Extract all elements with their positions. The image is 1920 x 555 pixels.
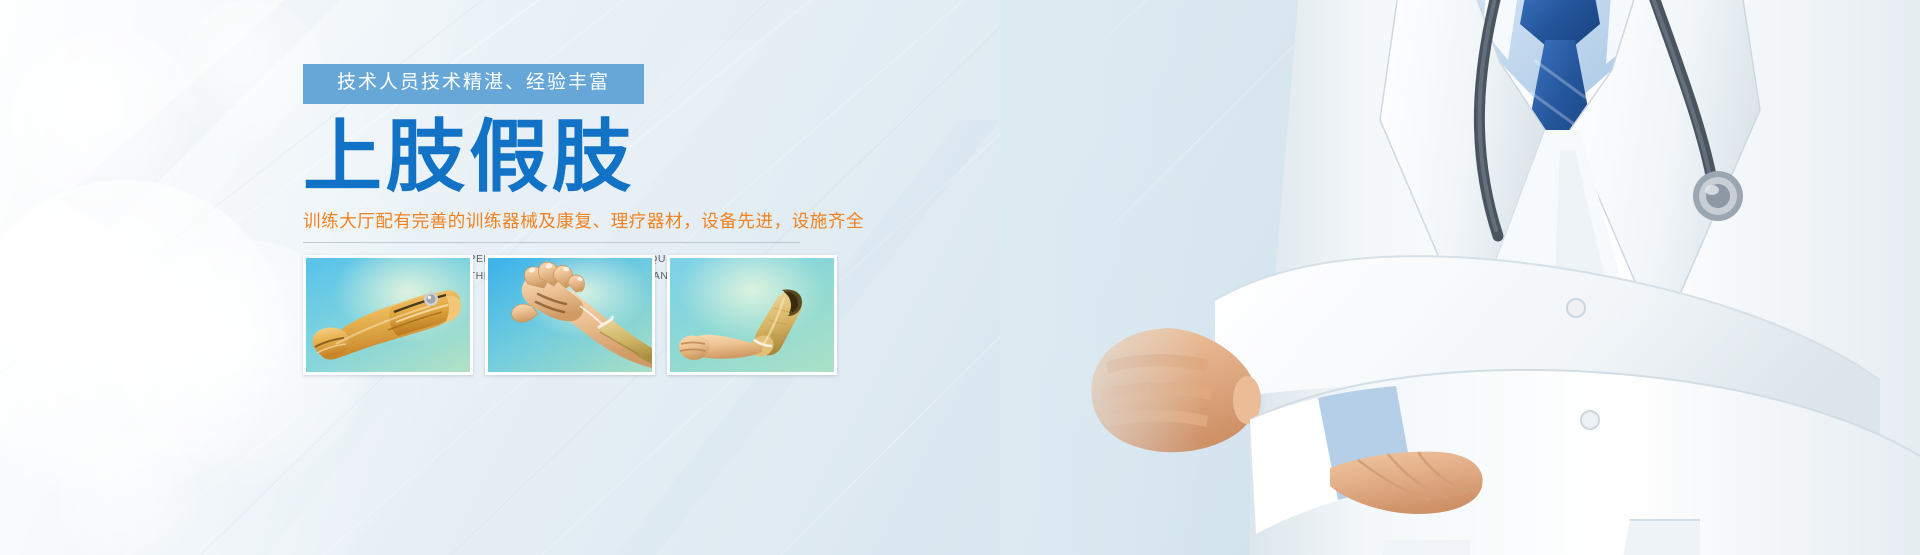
prosthetic-forearm-with-socket-image	[306, 258, 470, 372]
divider	[303, 242, 800, 243]
product-thumbnail[interactable]	[485, 255, 655, 375]
tagline-badge: 技术人员技术精湛、经验丰富	[303, 64, 644, 104]
prosthetic-arm-with-sleeve-image	[670, 258, 834, 372]
product-thumbnail[interactable]	[303, 255, 473, 375]
product-thumbnail[interactable]	[667, 255, 837, 375]
bokeh-circle	[10, 30, 200, 220]
doctor-photo	[1000, 0, 1920, 555]
hero-banner: 技术人员技术精湛、经验丰富 上肢假肢 训练大厅配有完善的训练器械及康复、理疗器材…	[0, 0, 1920, 555]
bokeh-circle	[0, 180, 290, 510]
product-thumbnail-list	[303, 255, 837, 375]
bokeh-circle	[60, 430, 200, 555]
cosmetic-prosthetic-hand-raised-image	[488, 258, 652, 372]
subtitle-chinese: 训练大厅配有完善的训练器械及康复、理疗器材，设备先进，设施齐全	[303, 209, 1003, 234]
page-title: 上肢假肢	[303, 116, 1003, 199]
